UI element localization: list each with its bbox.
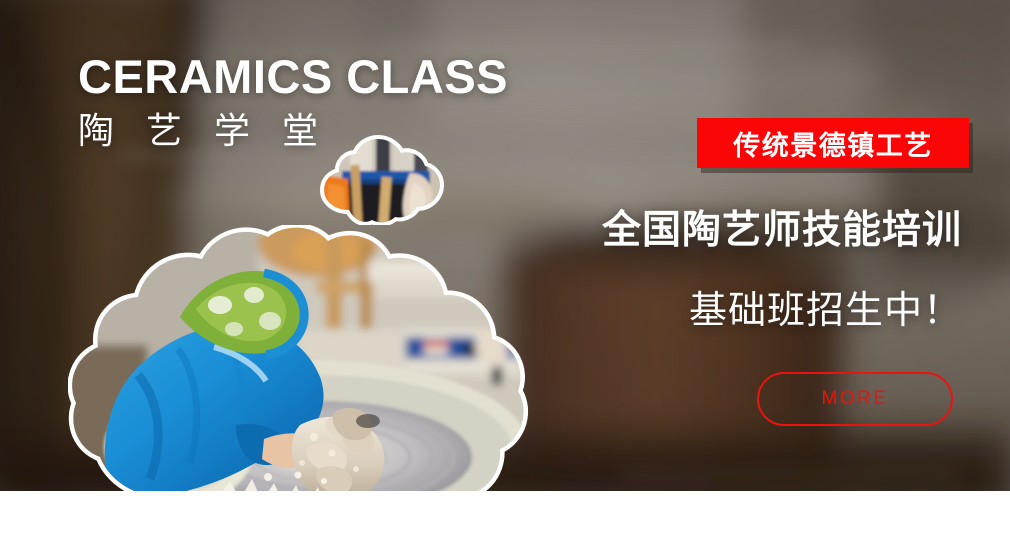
more-button[interactable]: MORE [757,372,953,426]
bottom-white-strip [0,491,1010,538]
headline: 全国陶艺师技能培训 [602,199,962,255]
ceramics-class-banner: CERAMICS CLASS 陶 艺 学 堂 传统景德镇工艺 全国陶艺师技能培训… [0,0,1010,538]
page-title-english: CERAMICS CLASS [78,53,508,100]
status-badge: 传统景德镇工艺 [697,118,969,168]
page-title-chinese: 陶 艺 学 堂 [78,112,508,150]
status-badge-label: 传统景德镇工艺 [733,124,933,163]
title-block: CERAMICS CLASS 陶 艺 学 堂 [78,53,508,150]
subheadline: 基础班招生中！ [689,279,962,334]
child-at-pottery-wheel-cloud-photo [68,225,538,515]
more-button-label: MORE [822,388,889,410]
